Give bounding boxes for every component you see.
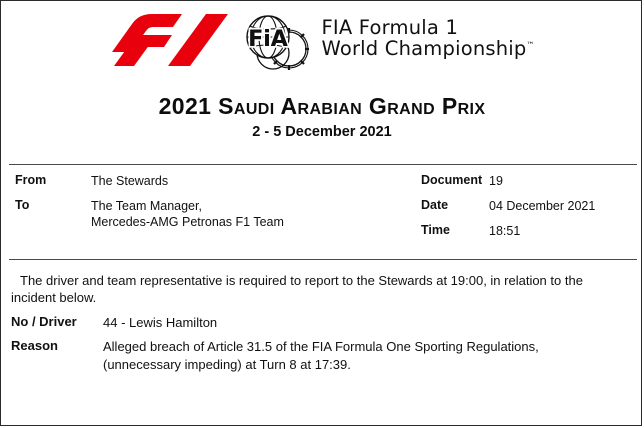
wordmark-line-2: World Championship™ [322, 39, 535, 60]
time-value: 18:51 [489, 223, 520, 239]
from-label: From [15, 173, 91, 187]
driver-value: 44 - Lewis Hamilton [103, 314, 217, 332]
title-block: 2021 Saudi Arabian Grand Prix 2 - 5 Dece… [1, 93, 642, 140]
f1-logo [110, 14, 228, 66]
divider-top [9, 164, 637, 165]
to-value-line-1: The Team Manager, [91, 198, 284, 214]
trademark-symbol: ™ [527, 41, 535, 50]
meta-row-from: From The Stewards [15, 173, 421, 189]
date-label: Date [421, 198, 489, 212]
document-label: Document [421, 173, 489, 187]
date-value: 04 December 2021 [489, 198, 595, 214]
to-label: To [15, 198, 91, 212]
meta-row-document: Document 19 [421, 173, 642, 189]
event-dates: 2 - 5 December 2021 [1, 124, 642, 140]
from-value: The Stewards [91, 173, 168, 189]
fia-globe-gear-icon: FiA FiA [239, 9, 309, 71]
document-header: FiA FiA FIA Formula 1 World Championship… [1, 9, 642, 71]
reason-value: Alleged breach of Article 31.5 of the FI… [103, 338, 539, 373]
to-value-line-2: Mercedes-AMG Petronas F1 Team [91, 214, 284, 230]
field-row-driver: No / Driver 44 - Lewis Hamilton [11, 314, 631, 332]
logo-row: FiA FiA FIA Formula 1 World Championship… [110, 9, 535, 71]
driver-label: No / Driver [11, 314, 103, 329]
metadata-block: From The Stewards To The Team Manager, M… [1, 173, 642, 239]
document-value: 19 [489, 173, 503, 189]
wordmark-line-1: FIA Formula 1 [322, 18, 535, 39]
event-title: 2021 Saudi Arabian Grand Prix [1, 93, 642, 120]
time-label: Time [421, 223, 489, 237]
to-value: The Team Manager, Mercedes-AMG Petronas … [91, 198, 284, 230]
divider-bottom [9, 259, 637, 260]
document-page: FiA FiA FIA Formula 1 World Championship… [0, 0, 642, 426]
reason-label: Reason [11, 338, 103, 353]
metadata-right-column: Document 19 Date 04 December 2021 Time 1… [421, 173, 642, 239]
reason-line-1: Alleged breach of Article 31.5 of the FI… [103, 338, 539, 356]
summons-notice: The driver and team representative is re… [11, 272, 631, 307]
metadata-left-column: From The Stewards To The Team Manager, M… [1, 173, 421, 239]
document-body: The driver and team representative is re… [1, 272, 642, 380]
meta-row-time: Time 18:51 [421, 223, 642, 239]
meta-row-to: To The Team Manager, Mercedes-AMG Petron… [15, 198, 421, 230]
field-row-reason: Reason Alleged breach of Article 31.5 of… [11, 338, 631, 373]
svg-text:FiA: FiA [248, 27, 288, 52]
championship-wordmark: FIA Formula 1 World Championship™ [322, 18, 535, 61]
meta-row-date: Date 04 December 2021 [421, 198, 642, 214]
wordmark-line-2-text: World Championship [322, 37, 527, 60]
reason-line-2: (unnecessary impeding) at Turn 8 at 17:3… [103, 356, 539, 374]
